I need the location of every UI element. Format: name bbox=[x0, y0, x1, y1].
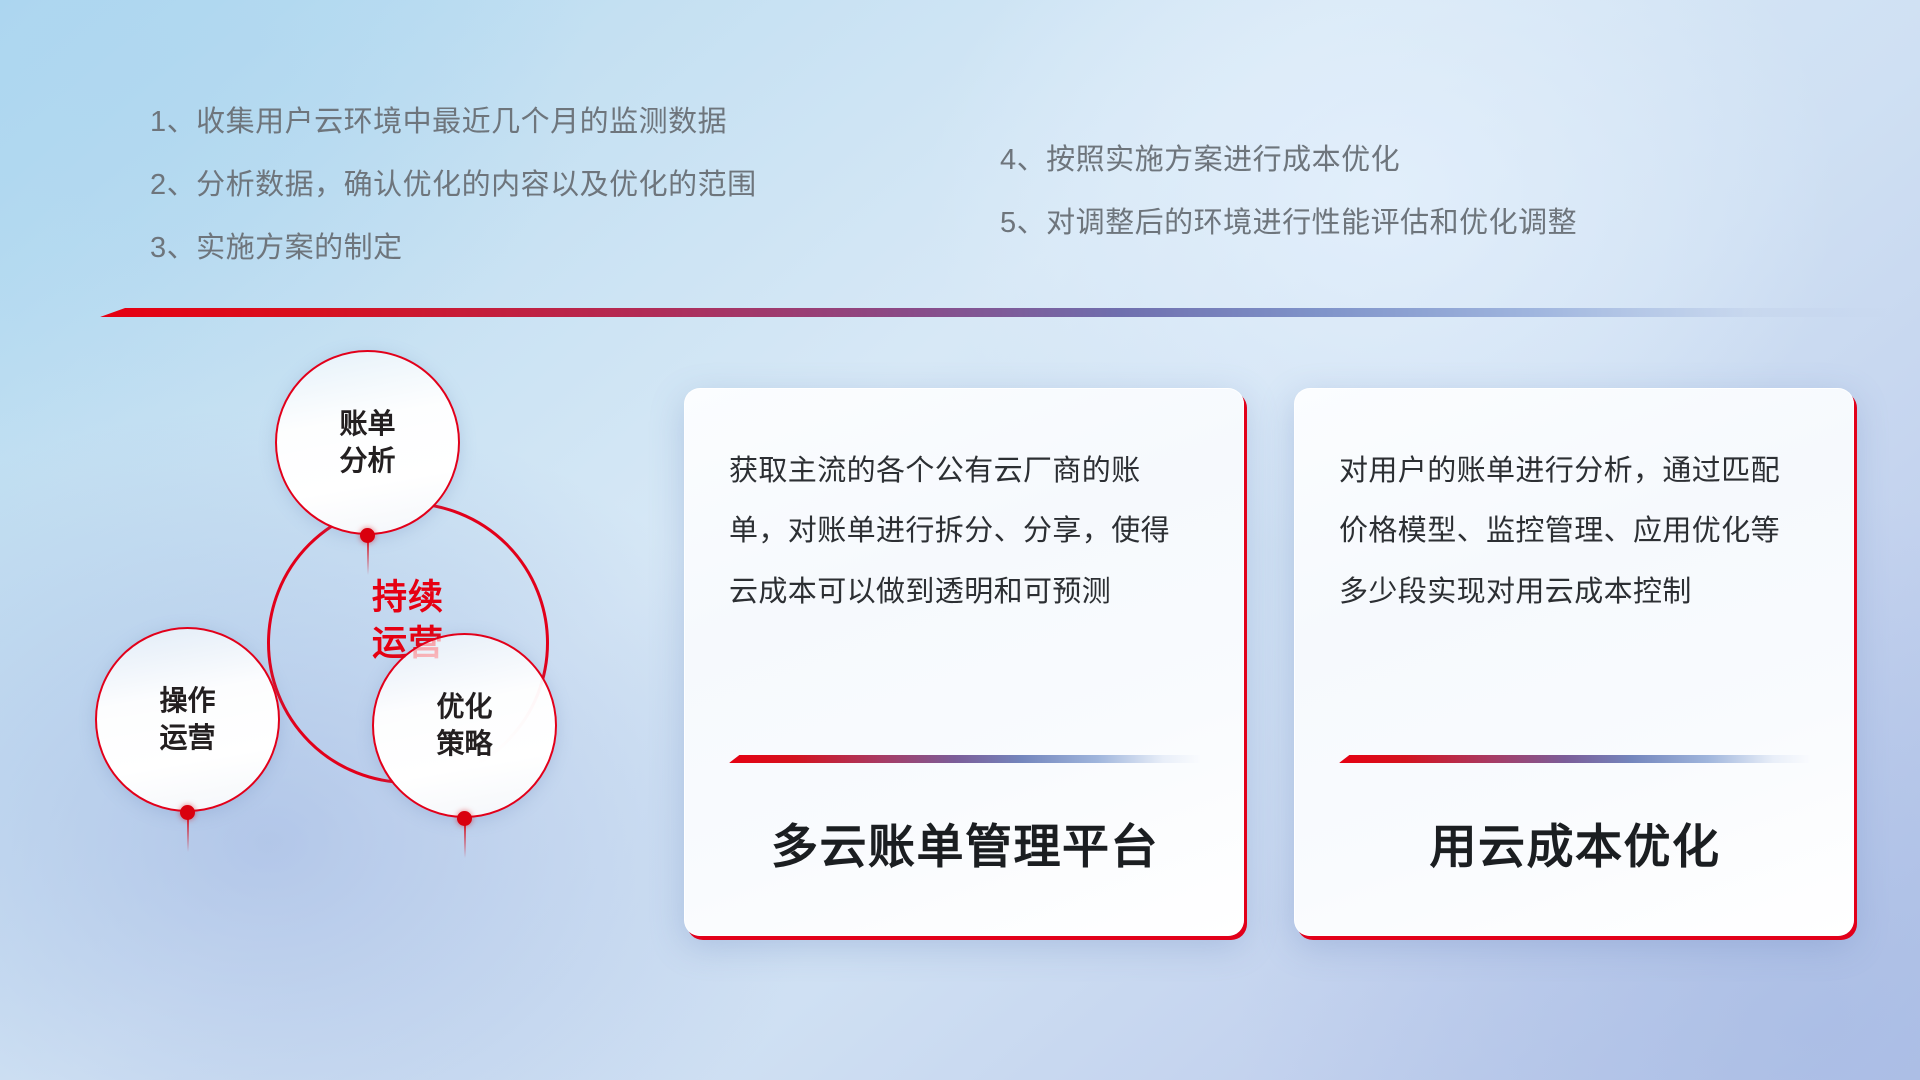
bubble-2-line1: 操作 bbox=[159, 683, 215, 720]
card-2-body: 对用户的账单进行分析，通过匹配价格模型、监控管理、应用优化等多少段实现对用云成本… bbox=[1339, 441, 1809, 622]
card-1-body: 获取主流的各个公有云厂商的账单，对账单进行拆分、分享，使得云成本可以做到透明和可… bbox=[729, 441, 1199, 622]
section-divider bbox=[100, 308, 1890, 317]
center-label-line1: 持续 bbox=[267, 575, 549, 621]
step-item-4: 4、按照实施方案进行成本优化 bbox=[1000, 146, 1577, 175]
step-item-3: 3、实施方案的制定 bbox=[150, 234, 757, 263]
diagram-bubble-operations[interactable]: 操作 运营 bbox=[95, 627, 280, 812]
steps-section: 1、收集用户云环境中最近几个月的监测数据 2、分析数据，确认优化的内容以及优化的… bbox=[0, 108, 1920, 278]
bubble-3-line2: 策略 bbox=[436, 726, 492, 763]
card-1-title: 多云账单管理平台 bbox=[729, 808, 1201, 877]
diagram-bubble-optimization-strategy[interactable]: 优化 策略 bbox=[372, 633, 557, 818]
diagram-node-tail-1 bbox=[367, 541, 369, 575]
bubble-2-line2: 运营 bbox=[159, 720, 215, 757]
steps-left-column: 1、收集用户云环境中最近几个月的监测数据 2、分析数据，确认优化的内容以及优化的… bbox=[150, 108, 757, 297]
feature-card-cost-optimization[interactable]: 对用户的账单进行分析，通过匹配价格模型、监控管理、应用优化等多少段实现对用云成本… bbox=[1294, 388, 1854, 936]
slide-canvas: 1、收集用户云环境中最近几个月的监测数据 2、分析数据，确认优化的内容以及优化的… bbox=[0, 0, 1920, 1080]
card-2-title: 用云成本优化 bbox=[1339, 808, 1811, 877]
diagram-node-dot-1 bbox=[360, 528, 375, 543]
feature-card-billing-platform[interactable]: 获取主流的各个公有云厂商的账单，对账单进行拆分、分享，使得云成本可以做到透明和可… bbox=[684, 388, 1244, 936]
card-1-accent-rule bbox=[729, 755, 1201, 763]
step-item-2: 2、分析数据，确认优化的内容以及优化的范围 bbox=[150, 171, 757, 200]
bubble-1-line2: 分析 bbox=[339, 443, 395, 480]
cycle-diagram: 持续 运营 账单 分析 操作 运营 优化 策略 bbox=[95, 350, 655, 950]
diagram-node-dot-2 bbox=[180, 805, 195, 820]
diagram-node-dot-3 bbox=[457, 811, 472, 826]
step-item-1: 1、收集用户云环境中最近几个月的监测数据 bbox=[150, 108, 757, 137]
diagram-bubble-billing-analysis[interactable]: 账单 分析 bbox=[275, 350, 460, 535]
card-2-accent-rule bbox=[1339, 755, 1811, 763]
step-item-5: 5、对调整后的环境进行性能评估和优化调整 bbox=[1000, 209, 1577, 238]
bubble-3-line1: 优化 bbox=[436, 689, 492, 726]
diagram-node-tail-3 bbox=[464, 824, 466, 858]
steps-right-column: 4、按照实施方案进行成本优化 5、对调整后的环境进行性能评估和优化调整 bbox=[1000, 146, 1577, 272]
diagram-node-tail-2 bbox=[187, 818, 189, 852]
bubble-1-line1: 账单 bbox=[339, 406, 395, 443]
